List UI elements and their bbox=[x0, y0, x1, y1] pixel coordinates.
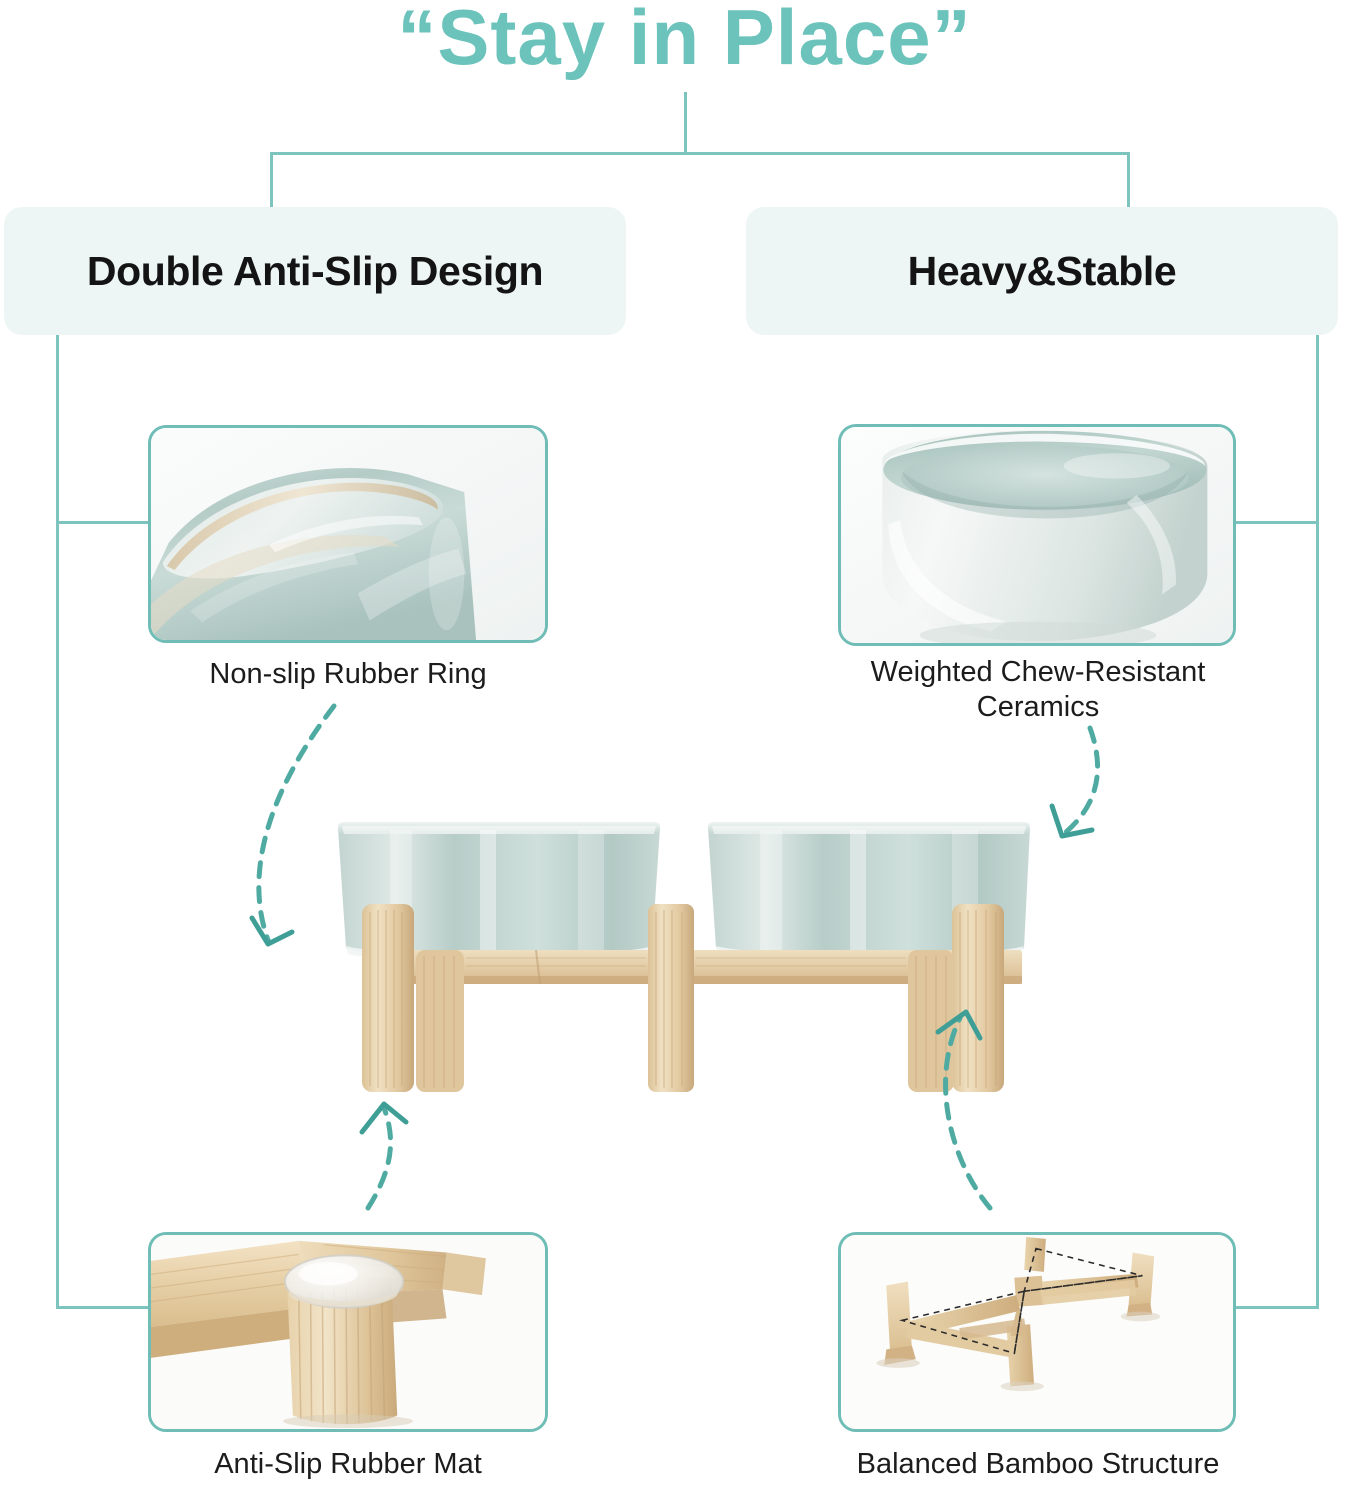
feature-photo-anti-slip-rubber-mat bbox=[148, 1232, 548, 1432]
connector-left-branch-top bbox=[56, 521, 151, 524]
caption-weighted-chew-resistant-ceramics: Weighted Chew-Resistant Ceramics bbox=[818, 655, 1258, 726]
connector-to-right-header bbox=[1127, 152, 1130, 210]
arrowhead-ceramic-bowl bbox=[1052, 806, 1092, 836]
bamboo-leg-rubber-pad-photo bbox=[151, 1235, 545, 1429]
arrow-to-bowl-rubber-ring bbox=[259, 706, 334, 940]
caption-balanced-bamboo-structure: Balanced Bamboo Structure bbox=[818, 1447, 1258, 1482]
connector-right-branch-bottom bbox=[1234, 1306, 1319, 1309]
bowl-rim-closeup-photo bbox=[151, 428, 545, 640]
section-header-double-anti-slip-design: Double Anti-Slip Design bbox=[4, 207, 626, 335]
feature-photo-balanced-bamboo-structure bbox=[838, 1232, 1236, 1432]
caption-anti-slip-rubber-mat: Anti-Slip Rubber Mat bbox=[128, 1447, 568, 1482]
connector-left-branch-bottom bbox=[56, 1306, 151, 1309]
infographic-page: “Stay in Place” Double Anti-Slip Design … bbox=[0, 0, 1369, 1500]
connector-to-left-header bbox=[270, 152, 273, 210]
caption-non-slip-rubber-ring: Non-slip Rubber Ring bbox=[128, 657, 568, 692]
page-title: “Stay in Place” bbox=[0, 0, 1369, 83]
connector-title-stem bbox=[684, 92, 687, 154]
double-bowl-bamboo-stand-photo bbox=[330, 800, 1050, 1100]
connector-top-bar bbox=[270, 152, 1130, 155]
arrow-to-ceramic-bowl bbox=[1066, 728, 1098, 832]
bowl-interior-photo bbox=[841, 427, 1233, 643]
arrowhead-bamboo-leg-foot bbox=[362, 1104, 406, 1132]
arrow-to-bamboo-leg-foot bbox=[368, 1108, 391, 1208]
connector-right-spine bbox=[1316, 335, 1319, 1309]
arrowhead-bowl-rubber-ring bbox=[252, 918, 292, 944]
bamboo-frame-underside-photo bbox=[841, 1235, 1233, 1429]
feature-photo-weighted-ceramics bbox=[838, 424, 1236, 646]
section-header-heavy-and-stable: Heavy&Stable bbox=[746, 207, 1338, 335]
connector-left-spine bbox=[56, 335, 59, 1309]
hero-product-image bbox=[330, 800, 1050, 1100]
feature-photo-non-slip-rubber-ring bbox=[148, 425, 548, 643]
connector-right-branch-top bbox=[1234, 521, 1319, 524]
